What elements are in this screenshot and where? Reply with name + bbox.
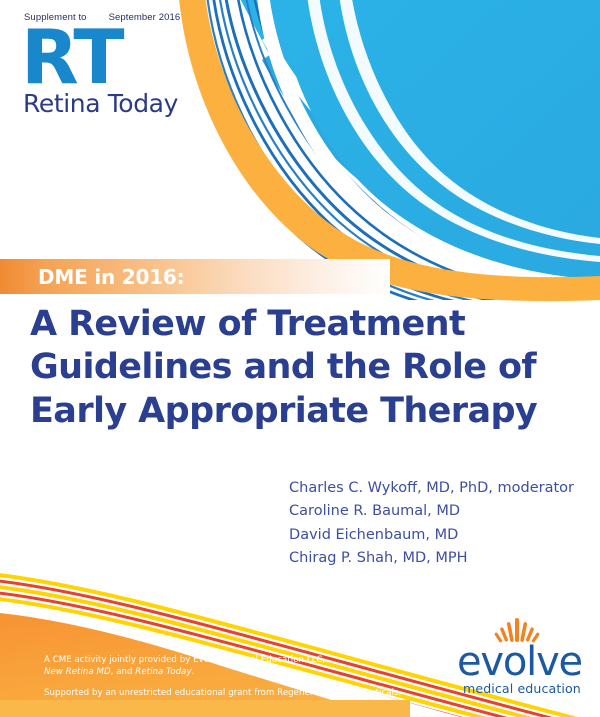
cyan-inner-line-2 [338, 0, 600, 244]
cyan-swoosh [232, 0, 600, 250]
publication-name: Retina Today [23, 91, 244, 116]
title-line-2: Guidelines and the Role of [30, 346, 560, 389]
page-title: A Review of Treatment Guidelines and the… [30, 303, 560, 433]
white-gap-1 [262, 34, 600, 250]
accreditation-line-1: A CME activity jointly provided by Evolv… [44, 654, 401, 666]
cyan-arc-lower [262, 52, 600, 268]
cover-page: Supplement to September 2016 RT Retina T… [0, 0, 600, 717]
white-gap-2 [256, 0, 600, 296]
title-line-1: A Review of Treatment [30, 303, 560, 346]
rt-logo: RT [21, 27, 244, 89]
faculty-member: Caroline R. Baumal, MD [289, 500, 574, 523]
evolve-logo: evolve medical education [455, 624, 585, 694]
title-line-3: Early Appropriate Therapy [30, 390, 560, 433]
footer-accreditation: A CME activity jointly provided by Evolv… [44, 654, 401, 699]
accreditation-conjunction: , and [111, 667, 136, 677]
journal-name-retina-today: Retina Today [135, 667, 191, 677]
faculty-member: Charles C. Wykoff, MD, PhD, moderator [289, 477, 574, 500]
cyan-inner-line-1 [306, 0, 600, 262]
accreditation-period: . [192, 667, 195, 677]
evolve-tagline: medical education [463, 681, 581, 696]
journal-name-new-retina-md: New Retina MD [44, 667, 111, 677]
cyan-main-body [276, 0, 600, 280]
masthead: Supplement to September 2016 RT Retina T… [24, 12, 244, 116]
support-statement: Supported by an unrestricted educational… [44, 687, 401, 699]
eyebrow-banner: DME in 2016: [0, 259, 390, 294]
eyebrow-label: DME in 2016: [0, 265, 184, 289]
accreditation-line-2: New Retina MD, and Retina Today. [44, 666, 401, 678]
faculty-member: Chirag P. Shah, MD, MPH [289, 547, 574, 570]
faculty-list: Charles C. Wykoff, MD, PhD, moderator Ca… [289, 477, 574, 571]
evolve-wordmark: evolve [457, 642, 582, 682]
faculty-member: David Eichenbaum, MD [289, 524, 574, 547]
